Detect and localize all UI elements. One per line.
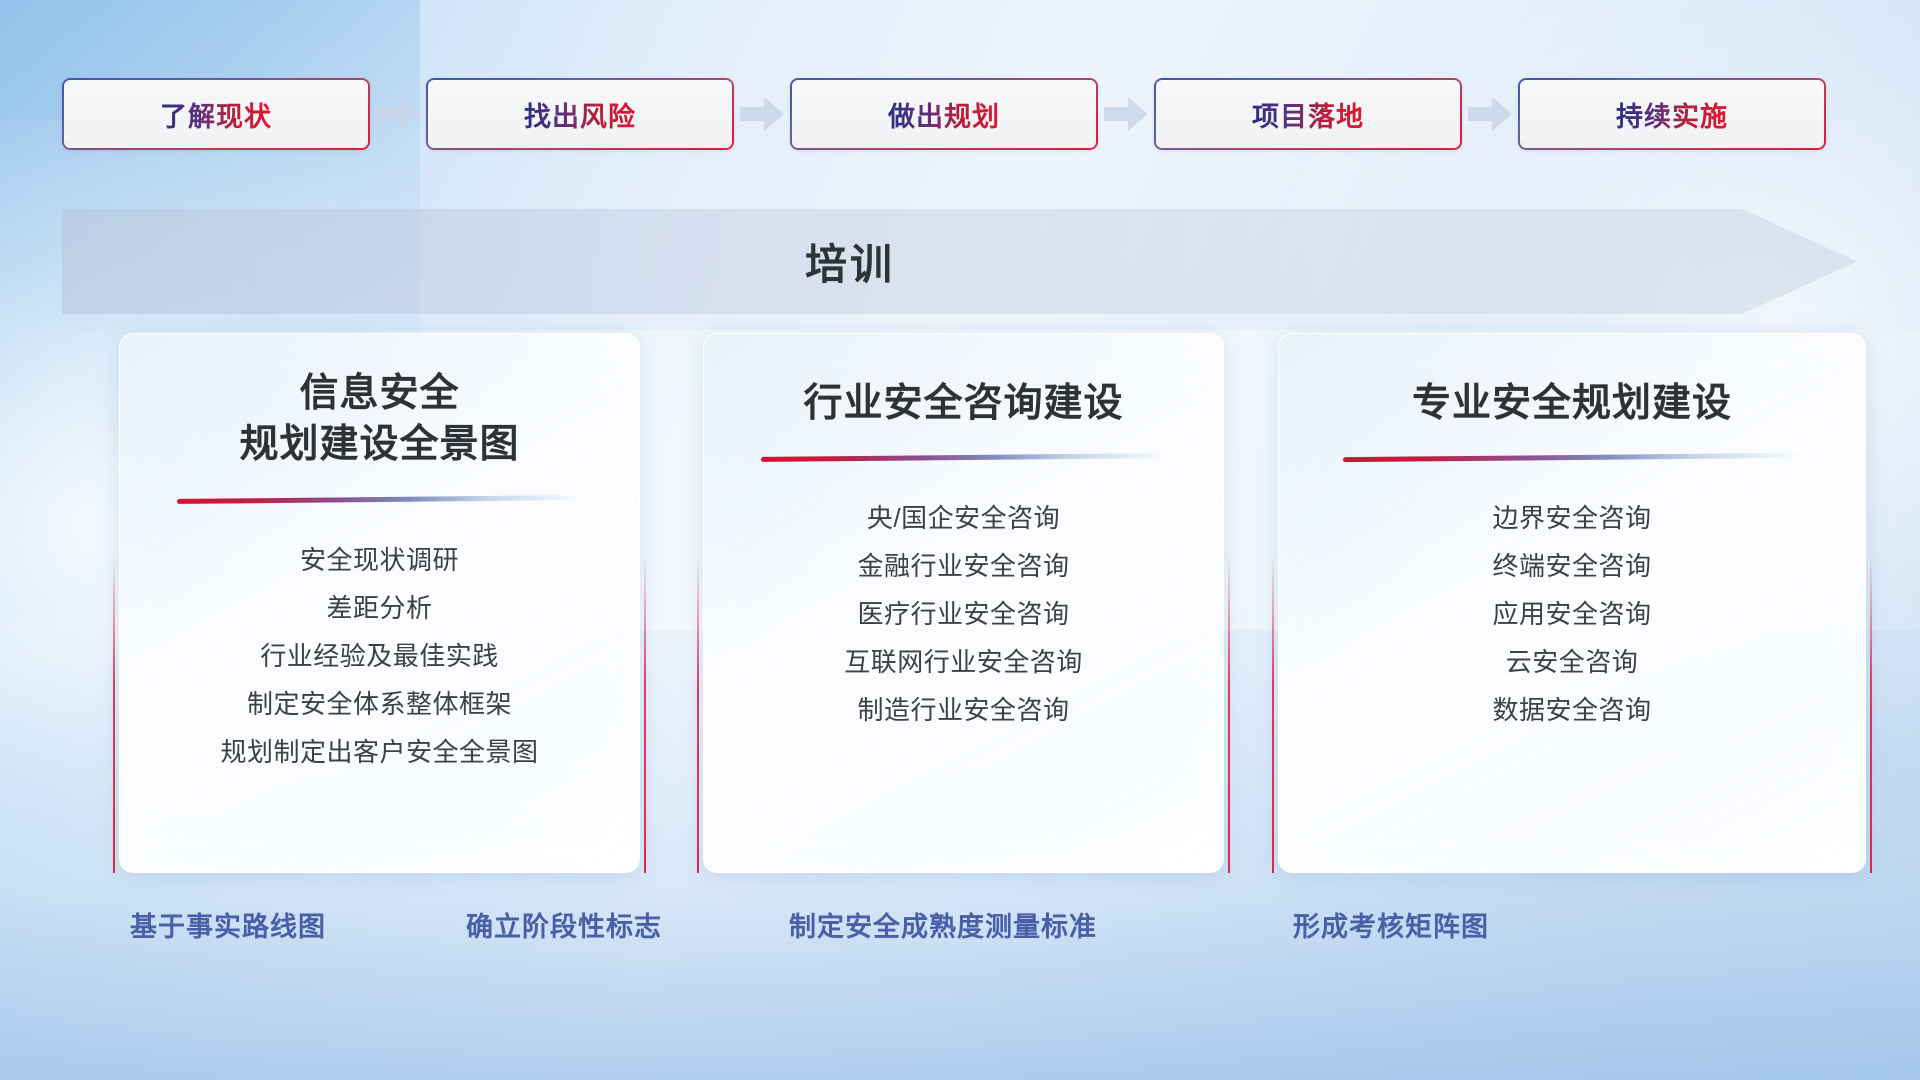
list-item: 制定安全体系整体框架	[120, 680, 639, 728]
step-label: 项目落地	[1252, 95, 1364, 134]
cards-row: 信息安全 规划建设全景图 安全现状调研 差距分析 行业经验及最佳实践 制定安全体…	[0, 333, 1920, 873]
step-box-4[interactable]: 项目落地	[1154, 78, 1462, 150]
card-title: 信息安全 规划建设全景图	[120, 368, 639, 471]
card-1[interactable]: 信息安全 规划建设全景图 安全现状调研 差距分析 行业经验及最佳实践 制定安全体…	[119, 333, 640, 873]
card-3[interactable]: 专业安全规划建设 边界安全咨询 终端安全咨询 应用安全咨询 云安全咨询 数据安全…	[1278, 333, 1866, 873]
list-item: 应用安全咨询	[1279, 590, 1865, 638]
step-label: 了解现状	[160, 95, 272, 134]
card-wrapper-2: 行业安全咨询建设 央/国企安全咨询 金融行业安全咨询 医疗行业安全咨询 互联网行…	[697, 333, 1230, 873]
bottom-label-3: 制定安全成熟度测量标准	[789, 905, 1097, 944]
arrow-right-icon	[1462, 78, 1518, 150]
card-title: 专业安全规划建设	[1279, 378, 1865, 429]
card-divider	[177, 495, 582, 504]
card-accent-left	[697, 377, 699, 873]
list-item: 金融行业安全咨询	[704, 542, 1223, 590]
step-box-2[interactable]: 找出风险	[426, 78, 734, 150]
step-box-3[interactable]: 做出规划	[790, 78, 1098, 150]
step-flow: 了解现状 找出风险 做出规划 项目落地 持续实施	[62, 78, 1862, 150]
card-accent-left	[113, 377, 115, 873]
card-list: 边界安全咨询 终端安全咨询 应用安全咨询 云安全咨询 数据安全咨询	[1279, 494, 1865, 734]
arrow-right-icon	[370, 78, 426, 150]
bottom-label-1: 基于事实路线图	[130, 905, 326, 944]
card-accent-left	[1272, 377, 1274, 873]
list-item: 互联网行业安全咨询	[704, 638, 1223, 686]
arrow-right-icon	[1098, 78, 1154, 150]
list-item: 央/国企安全咨询	[704, 494, 1223, 542]
card-title-line: 信息安全	[134, 368, 625, 419]
list-item: 规划制定出客户安全全景图	[120, 728, 639, 776]
card-title-line: 专业安全规划建设	[1293, 378, 1851, 429]
card-accent-right	[644, 377, 646, 873]
step-box-5[interactable]: 持续实施	[1518, 78, 1826, 150]
step-label: 找出风险	[524, 95, 636, 134]
card-divider	[1343, 453, 1800, 462]
bottom-label-row: 基于事实路线图 确立阶段性标志 制定安全成熟度测量标准 形成考核矩阵图	[0, 905, 1920, 965]
list-item: 数据安全咨询	[1279, 686, 1865, 734]
arrow-right-icon	[734, 78, 790, 150]
card-list: 央/国企安全咨询 金融行业安全咨询 医疗行业安全咨询 互联网行业安全咨询 制造行…	[704, 494, 1223, 734]
card-wrapper-1: 信息安全 规划建设全景图 安全现状调研 差距分析 行业经验及最佳实践 制定安全体…	[113, 333, 646, 873]
bottom-label-2: 确立阶段性标志	[466, 905, 662, 944]
card-wrapper-3: 专业安全规划建设 边界安全咨询 终端安全咨询 应用安全咨询 云安全咨询 数据安全…	[1272, 333, 1872, 873]
card-title-line: 规划建设全景图	[134, 419, 625, 470]
list-item: 制造行业安全咨询	[704, 686, 1223, 734]
step-label: 持续实施	[1616, 95, 1728, 134]
card-list: 安全现状调研 差距分析 行业经验及最佳实践 制定安全体系整体框架 规划制定出客户…	[120, 536, 639, 776]
card-accent-right	[1870, 377, 1872, 873]
list-item: 安全现状调研	[120, 536, 639, 584]
list-item: 终端安全咨询	[1279, 542, 1865, 590]
banner-title: 培训	[0, 209, 1700, 314]
list-item: 云安全咨询	[1279, 638, 1865, 686]
card-accent-right	[1228, 377, 1230, 873]
list-item: 医疗行业安全咨询	[704, 590, 1223, 638]
step-label: 做出规划	[888, 95, 1000, 134]
card-title-line: 行业安全咨询建设	[718, 378, 1209, 429]
card-title: 行业安全咨询建设	[704, 378, 1223, 429]
bottom-label-4: 形成考核矩阵图	[1293, 905, 1489, 944]
card-2[interactable]: 行业安全咨询建设 央/国企安全咨询 金融行业安全咨询 医疗行业安全咨询 互联网行…	[703, 333, 1224, 873]
card-divider	[761, 454, 1166, 463]
step-box-1[interactable]: 了解现状	[62, 78, 370, 150]
list-item: 差距分析	[120, 584, 639, 632]
list-item: 行业经验及最佳实践	[120, 632, 639, 680]
list-item: 边界安全咨询	[1279, 494, 1865, 542]
